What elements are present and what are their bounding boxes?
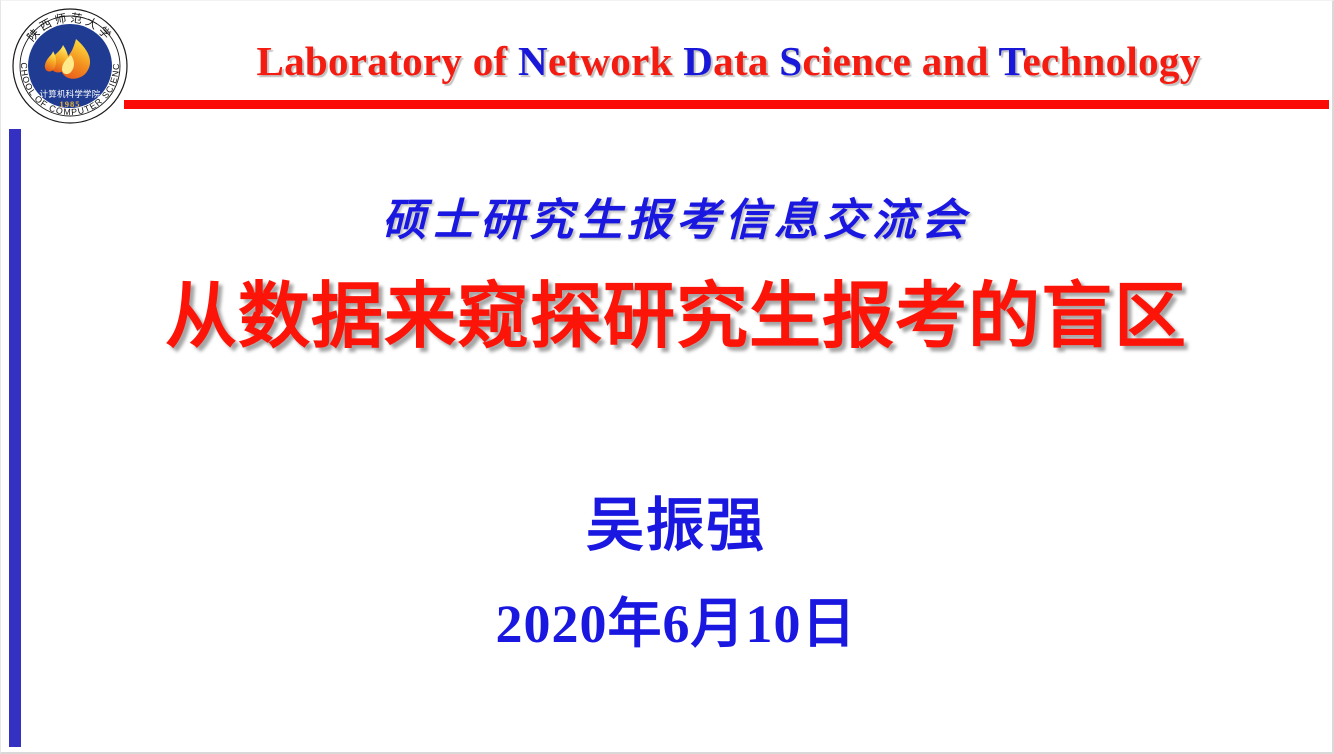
title-seg-4: D: [683, 38, 713, 84]
title-seg-2: N: [518, 38, 548, 84]
page-title: 从数据来窥探研究生报考的盲区: [31, 271, 1321, 361]
title-seg-1: aboratory of: [284, 38, 518, 84]
header-divider-rule: [124, 100, 1329, 109]
event-subtitle: 硕士研究生报考信息交流会: [31, 193, 1321, 249]
slide-header: 计算机科学学院 1985 陕西师范大学 SCHOOL OF COMPUTER S…: [1, 1, 1334, 113]
left-accent-bar: [9, 129, 21, 747]
title-seg-8: T: [999, 38, 1023, 84]
presentation-date: 2020年6月10日: [31, 589, 1321, 659]
title-seg-6: S: [779, 38, 802, 84]
title-seg-5: ata: [713, 38, 779, 84]
title-seg-0: L: [256, 38, 284, 84]
presenter-name: 吴振强: [31, 489, 1321, 561]
university-seal-logo: 计算机科学学院 1985 陕西师范大学 SCHOOL OF COMPUTER S…: [9, 5, 131, 127]
slide-body: 硕士研究生报考信息交流会 从数据来窥探研究生报考的盲区 吴振强 2020年6月1…: [31, 131, 1321, 741]
title-seg-9: echnology: [1022, 38, 1200, 84]
presentation-title-slide: 计算机科学学院 1985 陕西师范大学 SCHOOL OF COMPUTER S…: [0, 0, 1334, 754]
title-seg-7: cience and: [802, 38, 998, 84]
title-seg-3: etwork: [548, 38, 683, 84]
lab-name-title: Laboratory of Network Data Science and T…: [126, 35, 1331, 87]
